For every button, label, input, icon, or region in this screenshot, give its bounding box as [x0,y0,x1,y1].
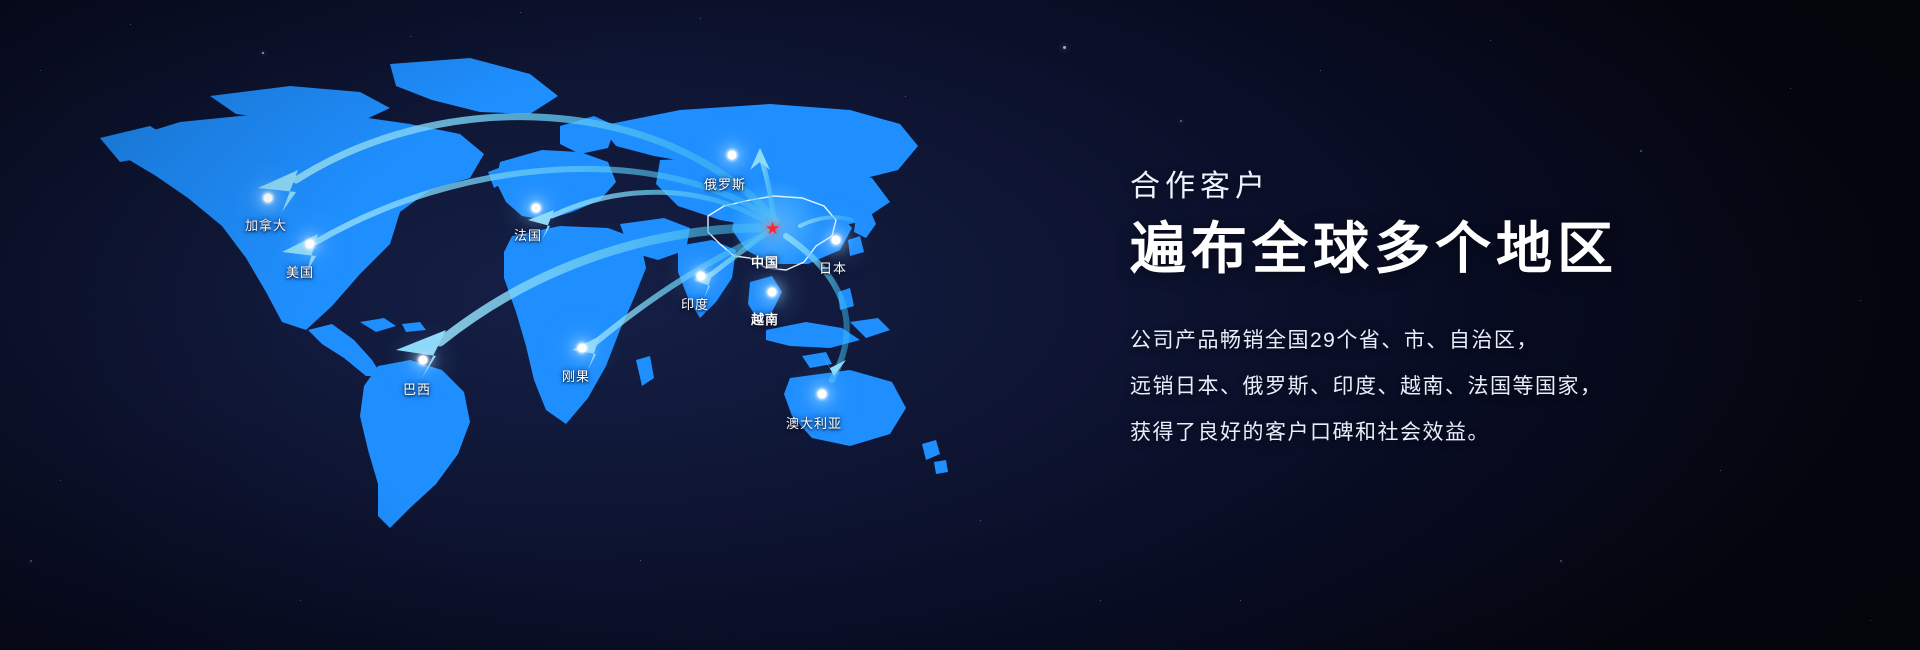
description-line-3: 获得了良好的客户口碑和社会效益。 [1130,418,1850,448]
description-text: 公司产品畅销全国29个省、市、自治区，远销日本、俄罗斯、印度、越南、法国等国家，… [1130,326,1850,449]
world-map: 加拿大美国巴西法国俄罗斯刚果印度中国越南日本澳大利亚 [60,30,960,590]
map-marker-usa[interactable] [306,240,315,249]
map-marker-brazil[interactable] [419,356,428,365]
map-label-brazil[interactable]: 巴西 [403,379,431,398]
map-label-congo[interactable]: 刚果 [562,366,590,385]
map-label-canada[interactable]: 加拿大 [245,215,287,234]
eyebrow-text: 合作客户 [1130,168,1850,206]
map-marker-congo[interactable] [578,344,587,353]
description-line-1: 公司产品畅销全国29个省、市、自治区， [1130,326,1850,356]
map-label-france[interactable]: 法国 [514,225,542,244]
map-label-australia[interactable]: 澳大利亚 [786,413,842,432]
map-marker-france[interactable] [532,204,541,213]
map-marker-vietnam[interactable] [768,288,777,297]
map-label-russia[interactable]: 俄罗斯 [704,174,746,193]
map-marker-russia[interactable] [728,151,737,160]
map-marker-canada[interactable] [264,194,273,203]
page-title: 遍布全球多个地区 [1130,216,1850,282]
landmasses [100,58,948,528]
map-label-vietnam[interactable]: 越南 [751,309,779,328]
map-marker-australia[interactable] [818,390,827,399]
map-label-china[interactable]: 中国 [751,252,779,271]
description-line-2: 远销日本、俄罗斯、印度、越南、法国等国家， [1130,372,1850,402]
copy-block: 合作客户 遍布全球多个地区 公司产品畅销全国29个省、市、自治区，远销日本、俄罗… [1130,168,1850,449]
map-label-usa[interactable]: 美国 [286,262,314,281]
map-label-india[interactable]: 印度 [681,294,709,313]
map-marker-india[interactable] [697,272,706,281]
map-label-japan[interactable]: 日本 [819,258,847,277]
global-clients-banner: 加拿大美国巴西法国俄罗斯刚果印度中国越南日本澳大利亚 合作客户 遍布全球多个地区… [0,0,1920,650]
map-marker-japan[interactable] [832,236,841,245]
